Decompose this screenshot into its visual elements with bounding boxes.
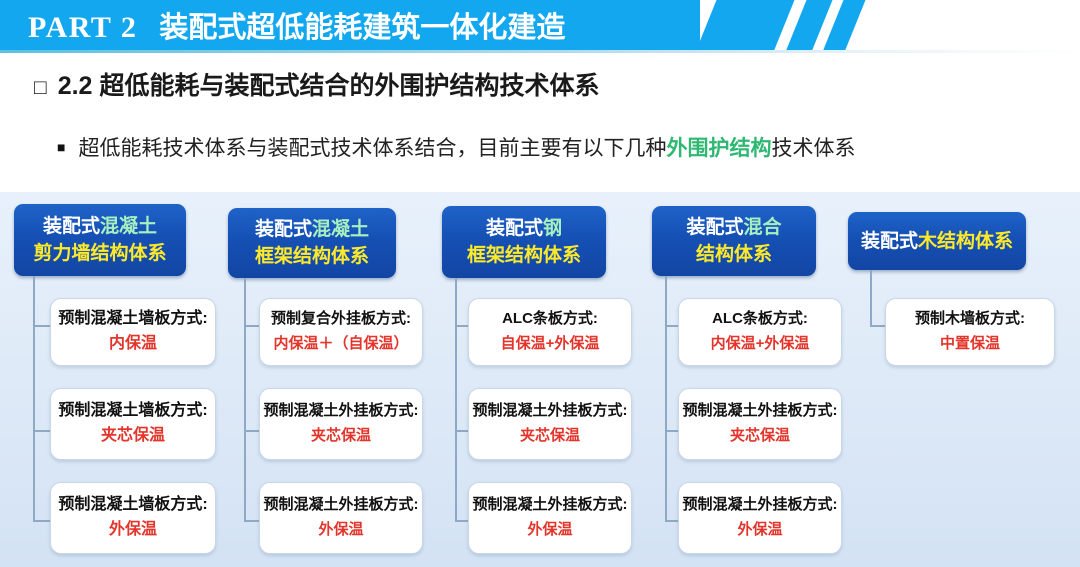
- card-4-2-value: 夹芯保温: [730, 424, 790, 448]
- card-4-2[interactable]: 预制混凝土外挂板方式: 夹芯保温: [678, 388, 842, 460]
- card-1-3[interactable]: 预制混凝土墙板方式: 外保温: [50, 482, 216, 554]
- page-title: PART 2装配式超低能耗建筑一体化建造: [28, 4, 565, 51]
- card-3-3-title: 预制混凝土外挂板方式:: [473, 494, 628, 516]
- card-3-3-value: 外保温: [527, 518, 572, 542]
- connector-branch-3-3: [455, 520, 468, 522]
- card-4-3[interactable]: 预制混凝土外挂板方式: 外保温: [678, 482, 842, 554]
- card-5-1[interactable]: 预制木墙板方式: 中置保温: [885, 298, 1055, 366]
- bullet-text-before: 超低能耗技术体系与装配式技术体系结合，目前主要有以下几种: [78, 137, 666, 160]
- connector-branch-2-3: [244, 520, 259, 522]
- card-2-1[interactable]: 预制复合外挂板方式: 内保温＋（自保温）: [259, 298, 423, 366]
- column-header-5[interactable]: 装配式木结构体系: [848, 212, 1026, 270]
- connector-trunk-2: [244, 278, 246, 521]
- part-label: PART 2: [28, 11, 137, 44]
- card-3-2-value: 夹芯保温: [520, 424, 580, 448]
- card-1-1-value: 内保温: [109, 332, 157, 356]
- column-header-1[interactable]: 装配式混凝土 剪力墙结构体系: [14, 204, 186, 276]
- card-4-1[interactable]: ALC条板方式: 内保温+外保温: [678, 298, 842, 366]
- column-header-4-line2: 结构体系: [696, 241, 772, 268]
- card-4-2-title: 预制混凝土外挂板方式:: [683, 400, 838, 422]
- card-1-2[interactable]: 预制混凝土墙板方式: 夹芯保温: [50, 388, 216, 460]
- bullet-highlight: 外围护结构: [666, 137, 771, 160]
- card-1-2-title: 预制混凝土墙板方式:: [58, 400, 207, 422]
- card-5-1-value: 中置保温: [940, 332, 1000, 356]
- card-2-1-title: 预制复合外挂板方式:: [271, 308, 411, 330]
- banner-title-text: 装配式超低能耗建筑一体化建造: [159, 12, 565, 44]
- connector-branch-1-3: [33, 520, 50, 522]
- card-3-2[interactable]: 预制混凝土外挂板方式: 夹芯保温: [468, 388, 632, 460]
- card-4-1-title: ALC条板方式:: [712, 308, 808, 330]
- square-marker-icon: □: [34, 76, 47, 99]
- connector-branch-3-1: [455, 325, 468, 327]
- card-2-1-value: 内保温＋（自保温）: [273, 332, 408, 356]
- card-2-2-title: 预制混凝土外挂板方式:: [264, 400, 419, 422]
- column-header-2-line1: 装配式混凝土: [255, 216, 369, 243]
- card-3-1-value: 自保温+外保温: [501, 332, 600, 356]
- connector-branch-2-1: [244, 325, 259, 327]
- card-4-1-value: 内保温+外保温: [711, 332, 810, 356]
- column-header-3-line2: 框架结构体系: [467, 242, 581, 269]
- connector-branch-4-1: [665, 325, 678, 327]
- connector-trunk-1: [33, 276, 35, 521]
- bullet-square-icon: ■: [57, 139, 65, 155]
- card-1-3-title: 预制混凝土墙板方式:: [58, 494, 207, 516]
- section-title: 超低能耗与装配式结合的外围护结构技术体系: [99, 72, 599, 100]
- column-header-1-line1: 装配式混凝土: [43, 213, 157, 240]
- card-3-1-title: ALC条板方式:: [502, 308, 598, 330]
- card-1-3-value: 外保温: [109, 518, 157, 542]
- connector-branch-5-1: [870, 325, 885, 327]
- card-1-1[interactable]: 预制混凝土墙板方式: 内保温: [50, 298, 216, 366]
- card-1-2-value: 夹芯保温: [101, 424, 165, 448]
- connector-branch-1-2: [33, 430, 50, 432]
- column-header-3-line1: 装配式钢: [486, 215, 562, 242]
- header-banner: PART 2装配式超低能耗建筑一体化建造: [0, 0, 1080, 55]
- connector-branch-2-2: [244, 430, 259, 432]
- column-header-5-line1: 装配式木结构体系: [861, 228, 1013, 255]
- card-4-3-title: 预制混凝土外挂板方式:: [683, 494, 838, 516]
- connector-trunk-5: [870, 270, 872, 326]
- card-2-3-value: 外保温: [318, 518, 363, 542]
- connector-branch-1-1: [33, 325, 50, 327]
- column-header-4[interactable]: 装配式混合 结构体系: [652, 206, 816, 276]
- connector-trunk-3: [455, 278, 457, 521]
- card-3-2-title: 预制混凝土外挂板方式:: [473, 400, 628, 422]
- card-3-3[interactable]: 预制混凝土外挂板方式: 外保温: [468, 482, 632, 554]
- column-header-3[interactable]: 装配式钢 框架结构体系: [442, 206, 606, 278]
- card-2-3-title: 预制混凝土外挂板方式:: [264, 494, 419, 516]
- column-header-1-line2: 剪力墙结构体系: [33, 240, 166, 267]
- bullet-line: ■超低能耗技术体系与装配式技术体系结合，目前主要有以下几种外围护结构技术体系: [57, 132, 855, 162]
- connector-branch-3-2: [455, 430, 468, 432]
- card-3-1[interactable]: ALC条板方式: 自保温+外保温: [468, 298, 632, 366]
- card-2-2[interactable]: 预制混凝土外挂板方式: 夹芯保温: [259, 388, 423, 460]
- card-5-1-title: 预制木墙板方式:: [915, 308, 1025, 330]
- bullet-text-after: 技术体系: [771, 137, 855, 160]
- diagram-panel: 装配式混凝土 剪力墙结构体系 预制混凝土墙板方式: 内保温 预制混凝土墙板方式:…: [0, 192, 1080, 567]
- connector-branch-4-2: [665, 430, 678, 432]
- column-header-2-line2: 框架结构体系: [255, 243, 369, 270]
- column-header-4-line1: 装配式混合: [686, 214, 781, 241]
- column-header-2[interactable]: 装配式混凝土 框架结构体系: [228, 208, 396, 278]
- card-2-2-value: 夹芯保温: [311, 424, 371, 448]
- card-1-1-title: 预制混凝土墙板方式:: [58, 308, 207, 330]
- card-2-3[interactable]: 预制混凝土外挂板方式: 外保温: [259, 482, 423, 554]
- section-number: 2.2: [58, 72, 93, 100]
- connector-trunk-4: [665, 276, 667, 521]
- card-4-3-value: 外保温: [737, 518, 782, 542]
- section-heading: □2.2超低能耗与装配式结合的外围护结构技术体系: [34, 66, 599, 102]
- connector-branch-4-3: [665, 520, 678, 522]
